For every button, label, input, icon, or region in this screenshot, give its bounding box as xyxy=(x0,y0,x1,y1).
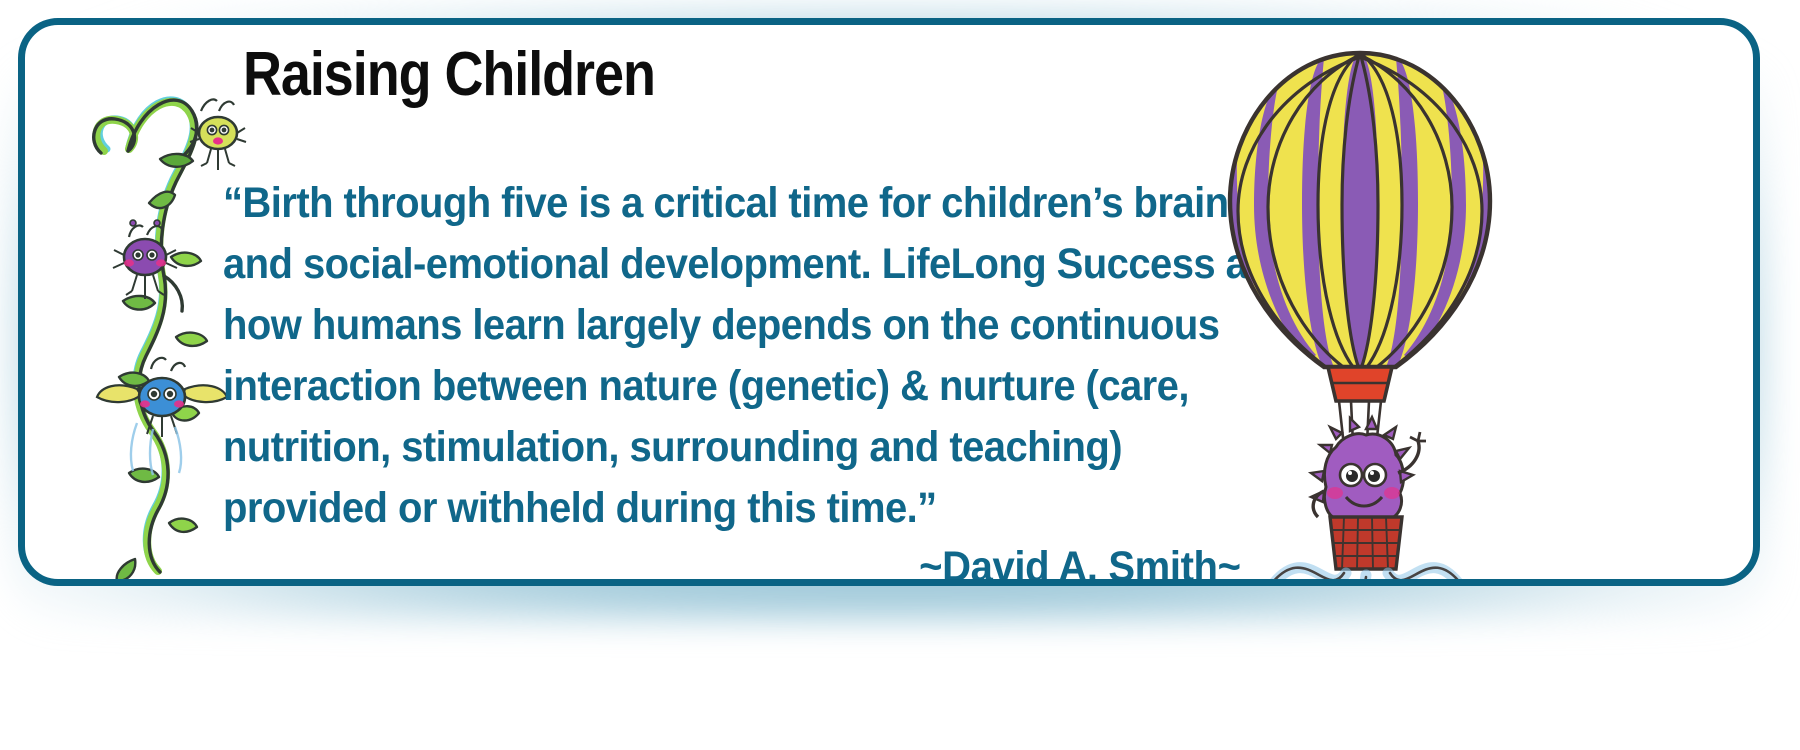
hot-air-balloon-illustration xyxy=(1200,35,1520,586)
yellow-green-bug-icon xyxy=(190,99,246,170)
quote-line: interaction between nature (genetic) & n… xyxy=(223,356,1181,417)
attribution-label: ~David A. Smith~ xyxy=(919,543,1240,586)
quote-line: how humans learn largely depends on the … xyxy=(223,295,1181,356)
poster-canvas: Raising Children “Birth through five is … xyxy=(0,0,1800,750)
quote-line: “Birth through five is a critical time f… xyxy=(223,173,1181,234)
quote-attribution: ~David A. Smith~ xyxy=(223,543,1253,586)
quote-card: Raising Children “Birth through five is … xyxy=(18,18,1760,586)
quote-line: nutrition, stimulation, surrounding and … xyxy=(223,417,1181,478)
page-title: Raising Children xyxy=(243,41,655,109)
quote-text: “Birth through five is a critical time f… xyxy=(223,173,1253,539)
quote-line: provided or withheld during this time.” xyxy=(223,478,1181,539)
quote-line: and social-emotional development. LifeLo… xyxy=(223,234,1181,295)
